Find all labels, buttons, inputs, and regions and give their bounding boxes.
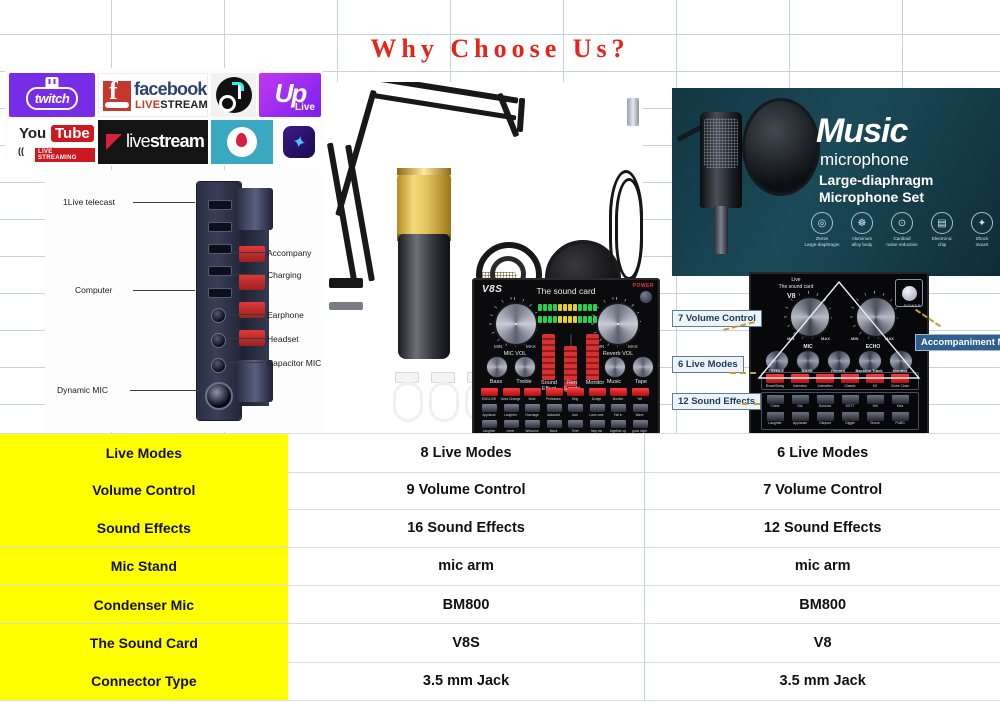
v8s-gray-button[interactable] bbox=[547, 404, 562, 412]
v8s-gray-button[interactable] bbox=[633, 420, 648, 428]
banner-title: Music bbox=[816, 112, 907, 151]
led-segment bbox=[538, 304, 542, 311]
table-cell-v8s: V8S bbox=[288, 624, 646, 662]
v8s-red-button-caption: Yell bbox=[629, 397, 651, 401]
twitch-glyph-icon bbox=[46, 77, 59, 89]
v8s-red-button[interactable] bbox=[632, 388, 649, 396]
led-segment bbox=[558, 304, 562, 311]
banner-mic-stem bbox=[714, 206, 728, 254]
v8s-red-button[interactable] bbox=[546, 388, 563, 396]
facebook-livestream-sub: LIVESTREAM bbox=[135, 99, 208, 111]
diaphragm-icon: ◎ bbox=[811, 212, 833, 234]
banner-subtitle: microphone bbox=[820, 150, 909, 170]
table-cell-feature: Connector Type bbox=[0, 662, 288, 700]
youtube-tube-label: Tube bbox=[51, 125, 94, 142]
port-accompany bbox=[208, 244, 232, 254]
v8s-gray-button-caption: Awkward bbox=[543, 413, 565, 417]
led-segment bbox=[573, 316, 577, 323]
v8s-red-button[interactable] bbox=[567, 388, 584, 396]
alloy-body-icon-caption: Aluminumalloy body bbox=[844, 236, 880, 248]
v8s-power-label: POWER bbox=[633, 283, 654, 289]
table-cell-v8: V8 bbox=[645, 624, 1000, 662]
led-segment bbox=[548, 316, 552, 323]
table-cell-feature: Condenser Mic bbox=[0, 586, 288, 624]
facebook-livestream-logo: facebook LIVESTREAM bbox=[98, 73, 208, 117]
table-row: The Sound CardV8SV8 bbox=[0, 624, 1000, 663]
alloy-body-icon: ☸Aluminumalloy body bbox=[844, 212, 880, 248]
cardioid-icon: ⊙ bbox=[891, 212, 913, 234]
facebook-film-icon bbox=[103, 81, 131, 111]
led-segment bbox=[568, 316, 572, 323]
up-live-logo: Up Live bbox=[259, 73, 321, 117]
v8s-gray-button-caption: Applause bbox=[478, 413, 500, 417]
mic-ring-top bbox=[397, 168, 451, 175]
table-cell-v8s: 9 Volume Control bbox=[288, 471, 646, 509]
sound-card-red-fader-3 bbox=[239, 302, 265, 318]
port-live-telecast-2 bbox=[208, 222, 232, 232]
star-app-icon: ✦ bbox=[283, 126, 315, 158]
infographic-page: Why Choose Us? twitch facebook LIVESTREA… bbox=[0, 0, 1000, 703]
led-segment bbox=[563, 316, 567, 323]
label-dynamic-mic: Dynamic MIC bbox=[57, 385, 108, 395]
table-cell-v8s: 3.5 mm Jack bbox=[288, 662, 646, 700]
table-cell-feature: Sound Effects bbox=[0, 509, 288, 547]
led-segment bbox=[548, 304, 552, 311]
livestream-logo-label: livestream bbox=[126, 131, 204, 152]
sound-card-port-diagram: 1Live telecast Computer Dynamic MIC Acco… bbox=[45, 170, 323, 432]
table-cell-v8s: mic arm bbox=[288, 548, 646, 586]
led-segment bbox=[563, 304, 567, 311]
v8s-knob-music[interactable] bbox=[604, 356, 626, 378]
v8s-red-button-caption: Profession bbox=[543, 397, 565, 401]
v8s-gray-button[interactable] bbox=[611, 404, 626, 412]
label-headset: Headset bbox=[267, 334, 299, 344]
v8s-knob-label-bass: Bass bbox=[482, 379, 510, 385]
tiktok-logo bbox=[211, 73, 256, 117]
v8s-mic-min-label: MIN bbox=[494, 344, 502, 349]
table-cell-feature: Mic Stand bbox=[0, 548, 288, 586]
bm800-mic-body bbox=[398, 234, 450, 359]
label-charging: Charging bbox=[267, 270, 302, 280]
mic-arm-tip bbox=[517, 98, 525, 132]
table-cell-feature: Volume Control bbox=[0, 471, 288, 509]
cable-white-1 bbox=[393, 372, 419, 418]
tiktok-note-icon bbox=[216, 77, 252, 113]
sound-card-red-fader-2 bbox=[239, 274, 265, 290]
v8s-red-button[interactable] bbox=[524, 388, 541, 396]
v8s-gray-button[interactable] bbox=[568, 404, 583, 412]
v8s-red-button-caption: ENGLISH bbox=[478, 397, 500, 401]
v8s-red-button[interactable] bbox=[503, 388, 520, 396]
table-row: Mic Standmic armmic arm bbox=[0, 548, 1000, 587]
led-segment bbox=[538, 316, 542, 323]
v8-highlight-triangle bbox=[751, 274, 927, 434]
label-capacitor-mic: Capacitor MIC bbox=[267, 358, 321, 368]
v8s-gray-button[interactable] bbox=[590, 420, 605, 428]
v8s-knob-treble[interactable] bbox=[514, 356, 536, 378]
v8s-power-button[interactable] bbox=[640, 291, 652, 303]
v8s-gray-button[interactable] bbox=[525, 404, 540, 412]
port-earphone bbox=[211, 308, 226, 323]
v8s-sound-card-photo: V8S The sound card POWER MIN MAX MIC VOL… bbox=[472, 278, 660, 438]
v8s-knob-tape[interactable] bbox=[632, 356, 654, 378]
v8s-red-button-caption: Sing bbox=[564, 397, 586, 401]
v8s-led-meter-top bbox=[538, 304, 597, 311]
up-live-logo-label: Up bbox=[275, 78, 306, 109]
led-segment bbox=[553, 304, 557, 311]
v8s-knob-label-treble: Treble bbox=[508, 379, 540, 385]
v8s-knob-label-music: Music bbox=[600, 379, 628, 385]
v8s-gray-button[interactable] bbox=[547, 420, 562, 428]
v8s-gray-button-caption: Laughter bbox=[500, 413, 522, 417]
port-live-telecast bbox=[208, 200, 232, 210]
v8s-gray-button[interactable] bbox=[504, 420, 519, 428]
port-headset bbox=[211, 333, 226, 348]
facebook-logo-label: facebook bbox=[134, 79, 207, 100]
callout-leader-3 bbox=[742, 403, 760, 405]
banner-mic-grill bbox=[704, 118, 738, 168]
v8s-reverb-volume-knob[interactable] bbox=[596, 302, 640, 346]
streaming-platform-logos: twitch facebook LIVESTREAM Up Live You T… bbox=[5, 68, 323, 166]
led-segment bbox=[588, 304, 592, 311]
banner-line-1: Large-diaphragm bbox=[819, 172, 933, 188]
bm800-mic-gold-head bbox=[397, 172, 451, 242]
label-earphone: Earphone bbox=[267, 310, 304, 320]
callout-accompaniment-music: Accompaniment Music bbox=[915, 334, 1000, 351]
v8s-gray-button[interactable] bbox=[590, 404, 605, 412]
table-row: Condenser MicBM800BM800 bbox=[0, 586, 1000, 625]
label-accompany: Accompany bbox=[267, 248, 311, 258]
up-live-sub: Live bbox=[295, 102, 315, 113]
table-cell-v8s: BM800 bbox=[288, 586, 646, 624]
led-segment bbox=[583, 304, 587, 311]
table-row: Live Modes8 Live Modes6 Live Modes bbox=[0, 433, 1000, 473]
v8s-gray-button-caption: Owenage bbox=[521, 413, 543, 417]
port-capacitor-mic bbox=[211, 358, 226, 373]
shock-mount-icon: ✦Shockmount bbox=[964, 212, 1000, 248]
v8s-gray-button[interactable] bbox=[504, 404, 519, 412]
v8s-red-button[interactable] bbox=[481, 388, 498, 396]
table-row: Connector Type3.5 mm Jack3.5 mm Jack bbox=[0, 662, 1000, 701]
shock-mount-icon-caption: Shockmount bbox=[964, 236, 1000, 248]
v8s-gray-button-caption: Icon bbox=[564, 413, 586, 417]
mic-arm-clamp-top bbox=[329, 278, 363, 288]
label-live-telecast: 1Live telecast bbox=[63, 197, 115, 207]
v8-sound-card-photo: LiveThe sound card V8 POWER MIN MAX MIC … bbox=[749, 272, 929, 436]
periscope-pin-icon bbox=[227, 127, 257, 157]
audio-cable-coil bbox=[609, 170, 643, 288]
table-cell-v8: 6 Live Modes bbox=[645, 434, 1000, 472]
label-computer: Computer bbox=[75, 285, 112, 295]
v8s-mic-max-label: MAX bbox=[526, 344, 536, 349]
table-row: Volume Control9 Volume Control7 Volume C… bbox=[0, 471, 1000, 510]
v8s-mic-volume-knob[interactable] bbox=[494, 302, 538, 346]
sound-card-red-fader-1 bbox=[239, 246, 265, 262]
led-segment bbox=[593, 316, 597, 323]
chip-icon: ▤ bbox=[931, 212, 953, 234]
diaphragm-icon: ◎25mmLarge-diaphragm bbox=[804, 212, 840, 248]
chip-icon: ▤Electronicchip bbox=[924, 212, 960, 248]
callout-live-modes: 6 Live Modes bbox=[672, 356, 744, 373]
callout-sound-effects: 12 Sound Effects bbox=[672, 393, 761, 410]
comparison-table: Live Modes8 Live Modes6 Live ModesVolume… bbox=[0, 433, 1000, 703]
youtube-live-streaming-sub: LIVE STREAMING bbox=[35, 148, 95, 162]
banner-feature-list: ◎25mmLarge-diaphragm☸Aluminumalloy body⊙… bbox=[804, 212, 1000, 248]
led-segment bbox=[568, 304, 572, 311]
port-charging bbox=[208, 266, 232, 276]
callout-leader-2 bbox=[730, 372, 756, 374]
table-cell-v8s: 8 Live Modes bbox=[288, 434, 646, 472]
v8s-red-button-caption: Monitor bbox=[607, 397, 629, 401]
v8s-knob-bass[interactable] bbox=[486, 356, 508, 378]
music-microphone-banner: Music microphone Large-diaphragm Microph… bbox=[672, 88, 1000, 276]
led-segment bbox=[553, 316, 557, 323]
led-segment bbox=[583, 316, 587, 323]
diaphragm-icon-caption: 25mmLarge-diaphragm bbox=[804, 236, 840, 248]
sound-card-knob-top bbox=[237, 188, 273, 230]
shock-mount-icon: ✦ bbox=[971, 212, 993, 234]
port-dynamic-mic bbox=[205, 382, 233, 410]
led-segment bbox=[573, 304, 577, 311]
chip-icon-caption: Electronicchip bbox=[924, 236, 960, 248]
v8s-red-button[interactable] bbox=[589, 388, 606, 396]
banner-pop-filter bbox=[742, 98, 820, 196]
v8s-red-button-caption: Dodge bbox=[586, 397, 608, 401]
v8s-gray-button[interactable] bbox=[482, 420, 497, 428]
v8s-gray-button-caption: Fall in bbox=[607, 413, 629, 417]
table-cell-v8s: 16 Sound Effects bbox=[288, 509, 646, 547]
v8s-gray-button[interactable] bbox=[633, 404, 648, 412]
v8s-reverb-max-label: MAX bbox=[628, 344, 638, 349]
table-cell-v8: 12 Sound Effects bbox=[645, 509, 1000, 547]
v8s-red-button-caption: Voice Change bbox=[500, 397, 522, 401]
periscope-logo bbox=[211, 120, 273, 164]
v8s-gray-button[interactable] bbox=[482, 404, 497, 412]
v8s-led-meter-bottom bbox=[538, 316, 597, 323]
led-segment bbox=[543, 304, 547, 311]
alloy-body-icon: ☸ bbox=[851, 212, 873, 234]
banner-line-2: Microphone Set bbox=[819, 189, 924, 205]
table-cell-feature: Live Modes bbox=[0, 434, 288, 472]
youtube-live-streaming-logo: You Tube (( )) LIVE STREAMING bbox=[9, 120, 95, 164]
table-row: Sound Effects16 Sound Effects12 Sound Ef… bbox=[0, 509, 1000, 548]
table-cell-v8: 3.5 mm Jack bbox=[645, 662, 1000, 700]
v8s-red-button[interactable] bbox=[610, 388, 627, 396]
v8s-subtitle: The sound card bbox=[474, 286, 658, 296]
led-segment bbox=[558, 316, 562, 323]
led-segment bbox=[593, 304, 597, 311]
led-segment bbox=[543, 316, 547, 323]
twitch-logo: twitch bbox=[9, 73, 95, 117]
table-cell-v8: mic arm bbox=[645, 548, 1000, 586]
v8s-gray-button-caption: Lane care bbox=[586, 413, 608, 417]
v8s-red-button-caption: Mute bbox=[521, 397, 543, 401]
livestream-flag-icon bbox=[106, 134, 122, 150]
youtube-broadcast-icon: (( )) bbox=[18, 146, 55, 156]
cardioid-icon: ⊙Cardioidnoise reduction bbox=[884, 212, 920, 248]
v8s-fader-monitor[interactable] bbox=[586, 334, 599, 380]
twitch-logo-label: twitch bbox=[26, 87, 79, 110]
led-segment bbox=[588, 316, 592, 323]
led-segment bbox=[578, 316, 582, 323]
page-title: Why Choose Us? bbox=[0, 34, 1000, 64]
mic-arm-clamp-screw bbox=[329, 302, 363, 310]
cardioid-icon-caption: Cardioidnoise reduction bbox=[884, 236, 920, 248]
v8s-gray-button[interactable] bbox=[611, 420, 626, 428]
usb-connector bbox=[627, 98, 639, 126]
table-cell-v8: 7 Volume Control bbox=[645, 471, 1000, 509]
table-cell-feature: The Sound Card bbox=[0, 624, 288, 662]
livestream-logo: livestream bbox=[98, 120, 208, 164]
v8s-fader-sound-effect[interactable] bbox=[542, 334, 555, 380]
star-app-logo: ✦ bbox=[276, 120, 321, 164]
v8s-knob-label-tape: Tape bbox=[628, 379, 654, 385]
v8s-gray-button-caption: Wave bbox=[629, 413, 651, 417]
cable-white-2 bbox=[429, 372, 455, 418]
v8s-gray-button[interactable] bbox=[525, 420, 540, 428]
youtube-you-label: You bbox=[19, 125, 46, 142]
port-computer bbox=[208, 288, 232, 298]
led-segment bbox=[578, 304, 582, 311]
banner-mic-body bbox=[700, 112, 742, 208]
table-cell-v8: BM800 bbox=[645, 586, 1000, 624]
v8s-gray-button[interactable] bbox=[568, 420, 583, 428]
